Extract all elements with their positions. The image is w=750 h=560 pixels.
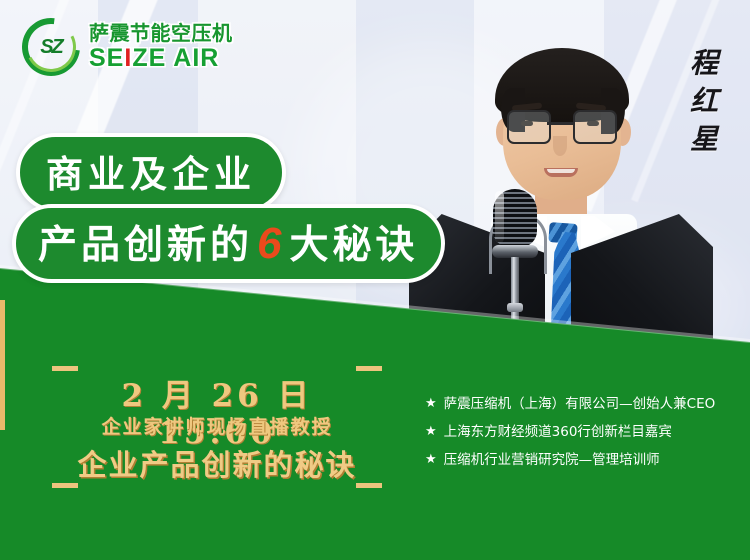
promo-poster: SZ 萨震节能空压机 SEIZE AIR 程红星 商业及企业 产品创新的6大秘诀… <box>0 0 750 560</box>
bracket-left-top <box>52 366 78 371</box>
brand-logo-text: 萨震节能空压机 SEIZE AIR <box>89 23 233 71</box>
headline-line-2: 产品创新的6大秘诀 <box>12 204 445 283</box>
speaker-portrait <box>395 18 715 358</box>
event-topic: 企业产品创新的秘诀 <box>70 442 364 484</box>
glasses-icon <box>507 110 551 144</box>
event-subtitle: 企业家讲师现场直播教授 <box>86 412 348 439</box>
portrait-nose <box>553 136 567 156</box>
portrait-mouth <box>544 168 578 177</box>
star-icon: ★ <box>425 452 437 469</box>
brand-name-en-part2: ZE AIR <box>132 44 219 72</box>
event-date-block: 2 月 26 日 15:00 企业家讲师现场直播教授 企业产品创新的秘诀 <box>52 366 382 488</box>
credential-text: 上海东方财经频道360行创新栏目嘉宾 <box>444 424 672 441</box>
credential-item: ★ 上海东方财经频道360行创新栏目嘉宾 <box>425 424 735 441</box>
gold-accent-bar <box>0 300 5 430</box>
star-icon: ★ <box>425 424 437 441</box>
brand-name-cn: 萨震节能空压机 <box>89 23 233 43</box>
credential-item: ★ 萨震压缩机（上海）有限公司—创始人兼CEO <box>425 396 735 413</box>
credential-text: 压缩机行业营销研究院—管理培训师 <box>444 452 660 469</box>
logo-monogram-letters: SZ <box>31 35 71 59</box>
star-icon: ★ <box>425 396 437 413</box>
microphone-stand-collar <box>507 303 523 312</box>
speaker-name-vertical: 程红星 <box>682 48 722 162</box>
headline-line-2-before: 产品创新的 <box>38 223 253 268</box>
glasses-bridge <box>547 122 573 125</box>
bracket-right-top <box>356 366 382 371</box>
brand-name-en: SEIZE AIR <box>89 46 233 71</box>
headline-line-2-after: 大秘诀 <box>290 223 419 268</box>
glasses-icon <box>573 110 617 144</box>
speaker-credentials: ★ 萨震压缩机（上海）有限公司—创始人兼CEO ★ 上海东方财经频道360行创新… <box>425 396 735 480</box>
credential-item: ★ 压缩机行业营销研究院—管理培训师 <box>425 452 735 469</box>
brand-name-en-part1: SE <box>89 44 124 72</box>
sz-monogram-icon: SZ <box>22 18 80 76</box>
headline-line-1: 商业及企业 <box>16 133 286 212</box>
microphone-highlight <box>495 191 504 243</box>
headline-highlight-number: 6 <box>253 219 289 268</box>
credential-text: 萨震压缩机（上海）有限公司—创始人兼CEO <box>444 396 716 413</box>
brand-logo[interactable]: SZ 萨震节能空压机 SEIZE AIR <box>22 16 252 78</box>
